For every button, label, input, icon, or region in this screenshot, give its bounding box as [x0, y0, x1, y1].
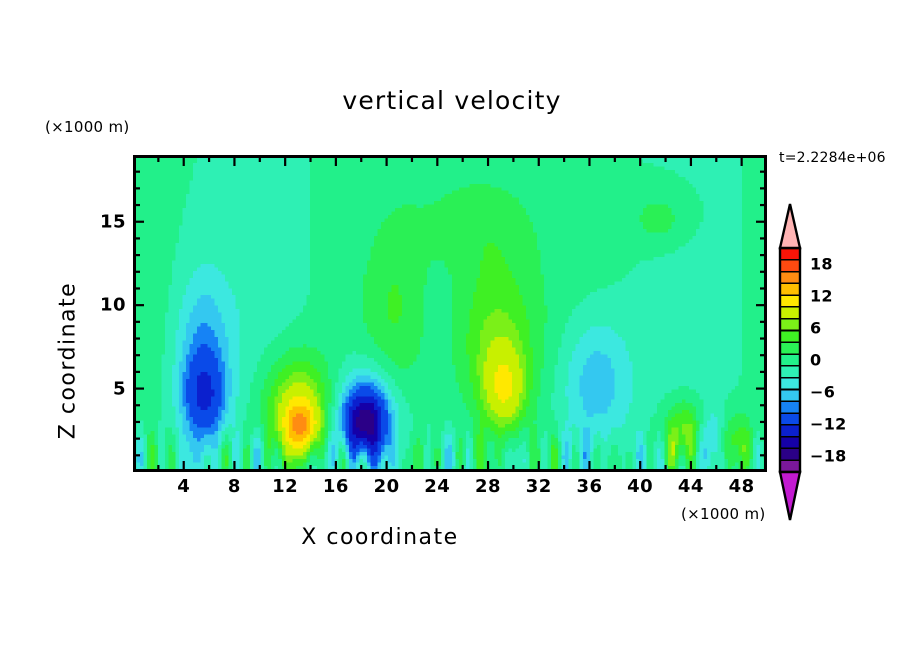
x-tick-label-16: 16: [323, 476, 349, 497]
colorbar-label-18: 18: [810, 255, 833, 274]
y-axis-unit-label: (×1000 m): [45, 118, 130, 136]
x-tick-label-44: 44: [678, 476, 704, 497]
y-tick-label-15: 15: [100, 211, 126, 232]
x-tick-label-32: 32: [526, 476, 552, 497]
x-tick-label-8: 8: [228, 476, 241, 497]
x-axis-unit-label: (×1000 m): [681, 505, 766, 523]
vertical-velocity-field: [133, 155, 767, 472]
colorbar-legend: [770, 200, 812, 525]
x-tick-label-48: 48: [729, 476, 755, 497]
colorbar-label-12: 12: [810, 287, 833, 306]
x-tick-label-28: 28: [475, 476, 501, 497]
x-tick-label-4: 4: [177, 476, 190, 497]
colorbar-label-neg6: −6: [810, 383, 835, 402]
time-annotation: t=2.2284e+06: [779, 150, 886, 166]
x-tick-label-40: 40: [627, 476, 653, 497]
y-axis-title: Z coordinate: [56, 241, 81, 481]
colorbar-label-6: 6: [810, 319, 821, 338]
y-tick-label-5: 5: [113, 378, 126, 399]
x-tick-label-12: 12: [272, 476, 298, 497]
chart-title: vertical velocity: [0, 86, 904, 115]
y-tick-label-10: 10: [100, 295, 126, 316]
contour-plot-canvas: [133, 155, 767, 472]
colorbar-label-0: 0: [810, 351, 821, 370]
colorbar-label-neg12: −12: [810, 415, 847, 434]
x-tick-label-36: 36: [576, 476, 602, 497]
colorbar-label-neg18: −18: [810, 447, 847, 466]
x-axis-title: X coordinate: [0, 525, 760, 550]
x-tick-label-20: 20: [374, 476, 400, 497]
x-tick-label-24: 24: [424, 476, 450, 497]
